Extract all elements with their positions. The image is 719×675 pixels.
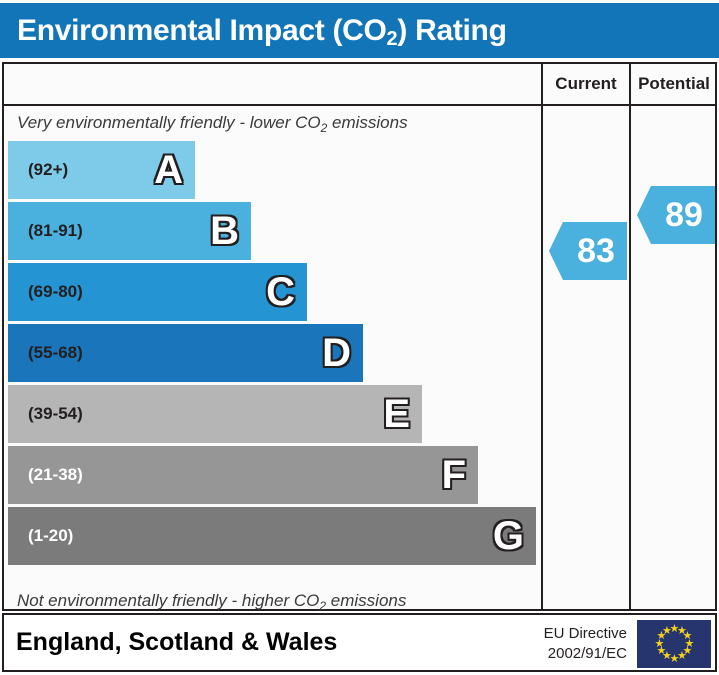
rating-band-range-c: (69-80) (28, 282, 83, 302)
rating-marker-current: 83 (549, 222, 627, 280)
rating-marker-value-current: 83 (549, 234, 627, 268)
chart-title-bar: Environmental Impact (CO2) Rating (0, 3, 719, 58)
rating-band-letter-d: D (322, 333, 351, 373)
eu-directive-line2: 2002/91/EC (519, 644, 627, 664)
rating-band-range-e: (39-54) (28, 404, 83, 424)
rating-band-range-b: (81-91) (28, 221, 83, 241)
page-title-prefix: Environmental Impact (CO (17, 14, 387, 47)
column-divider-current (541, 62, 543, 611)
rating-band-letter-a: A (154, 150, 183, 190)
caption-top-subscript: 2 (321, 121, 328, 135)
rating-band-f: (21-38)F (8, 446, 478, 504)
eu-flag-star: ★ (662, 627, 671, 636)
eu-directive-line1: EU Directive (519, 624, 627, 644)
caption-top-suffix: emissions (327, 113, 407, 132)
caption-bottom-prefix: Not environmentally friendly - higher CO (17, 591, 319, 610)
caption-top: Very environmentally friendly - lower CO… (17, 110, 408, 136)
rating-band-b: (81-91)B (8, 202, 251, 260)
eu-directive-text: EU Directive 2002/91/EC (519, 624, 627, 664)
rating-band-e: (39-54)E (8, 385, 422, 443)
rating-marker-potential: 89 (637, 186, 715, 244)
caption-top-prefix: Very environmentally friendly - lower CO (17, 113, 321, 132)
rating-marker-value-potential: 89 (637, 198, 715, 232)
page-title-suffix: ) Rating (397, 14, 506, 47)
column-header-current: Current (543, 64, 629, 104)
rating-band-a: (92+)A (8, 141, 195, 199)
column-divider-potential (629, 62, 631, 611)
rating-band-range-d: (55-68) (28, 343, 83, 363)
rating-band-range-g: (1-20) (28, 526, 73, 546)
rating-band-letter-g: G (493, 516, 524, 556)
rating-band-d: (55-68)D (8, 324, 363, 382)
rating-band-letter-c: C (266, 272, 295, 312)
rating-band-g: (1-20)G (8, 507, 536, 565)
rating-band-letter-f: F (442, 455, 466, 495)
rating-band-range-a: (92+) (28, 160, 68, 180)
epc-environmental-impact-chart: Environmental Impact (CO2) Rating Curren… (0, 0, 719, 675)
page-title: Environmental Impact (CO2) Rating (17, 14, 507, 48)
eu-flag-icon: ★★★★★★★★★★★★ (637, 620, 711, 668)
footer-region-label: England, Scotland & Wales (16, 628, 337, 657)
header-row-divider (2, 104, 717, 106)
caption-bottom-subscript: 2 (319, 599, 326, 613)
rating-band-letter-b: B (210, 211, 239, 251)
rating-band-range-f: (21-38) (28, 465, 83, 485)
caption-bottom: Not environmentally friendly - higher CO… (17, 588, 406, 614)
column-header-potential: Potential (631, 64, 717, 104)
rating-band-letter-e: E (383, 394, 410, 434)
rating-band-c: (69-80)C (8, 263, 307, 321)
page-title-subscript: 2 (387, 28, 398, 50)
caption-bottom-suffix: emissions (326, 591, 406, 610)
